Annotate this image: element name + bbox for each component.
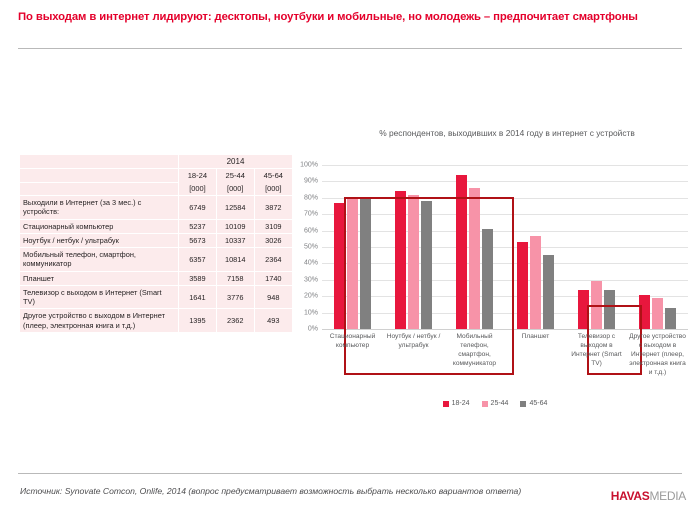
table-header-row-unit: [000] [000] [000] <box>20 182 292 196</box>
table-cell-value: 1395 <box>179 309 217 332</box>
footer-divider <box>18 473 682 474</box>
chart-x-axis-label: Мобильный телефон, смартфон, коммуникато… <box>444 333 505 377</box>
table-header-unit-1: [000] <box>179 182 217 196</box>
chart-bar <box>421 201 432 329</box>
table-cell-value: 5237 <box>179 219 217 233</box>
chart-bar <box>456 175 467 329</box>
table-header-age-25-44: 25-44 <box>216 169 254 183</box>
table-cell-value: 7158 <box>216 271 254 285</box>
table-cell-value: 6357 <box>179 248 217 272</box>
chart-y-tick-label: 30% <box>304 276 318 283</box>
chart-bar <box>665 308 676 329</box>
table-row: Мобильный телефон, смартфон, коммуникато… <box>20 248 292 272</box>
table-row: Стационарный компьютер5237101093109 <box>20 219 292 233</box>
chart-bar <box>652 298 663 329</box>
table-row: Планшет358971581740 <box>20 271 292 285</box>
table-row-label: Мобильный телефон, смартфон, коммуникато… <box>20 248 179 272</box>
table-corner-cell <box>20 155 179 169</box>
chart-bar-group <box>566 165 627 329</box>
chart-x-axis-label: Стационарный компьютер <box>322 333 383 377</box>
chart-y-tick-label: 20% <box>304 293 318 300</box>
table-cell-value: 3109 <box>254 219 292 233</box>
chart-bar <box>469 188 480 329</box>
chart-bar <box>591 281 602 329</box>
table-cell-value: 10814 <box>216 248 254 272</box>
chart-bar-group <box>627 165 688 329</box>
chart-gridline: 0% <box>322 329 688 330</box>
logo-havas-text: HAVAS <box>611 489 650 503</box>
table-cell-value: 948 <box>254 285 292 309</box>
table-header-unit-2: [000] <box>216 182 254 196</box>
table-header-age-18-24: 18-24 <box>179 169 217 183</box>
chart-bar <box>347 198 358 329</box>
table-row-label: Телевизор с выходом в Интернет (Smart TV… <box>20 285 179 309</box>
chart-y-tick-label: 80% <box>304 194 318 201</box>
table-header-age-45-64: 45-64 <box>254 169 292 183</box>
chart-bar <box>639 295 650 329</box>
chart-bar <box>530 236 541 329</box>
chart-title: % респондентов, выходивших в 2014 году в… <box>352 128 662 139</box>
chart-y-tick-label: 0% <box>308 326 318 333</box>
table-row: Выходили в Интернет (за 3 мес.) с устрой… <box>20 196 292 220</box>
chart-y-tick-label: 10% <box>304 309 318 316</box>
table-row: Другое устройство с выходом в Интернет (… <box>20 309 292 332</box>
legend-label: 45-64 <box>529 400 547 407</box>
chart-plot-area: 100%90%80%70%60%50%40%30%20%10%0% <box>322 165 688 329</box>
title-divider <box>18 48 682 49</box>
havas-media-logo: HAVASMEDIA <box>611 489 686 503</box>
table-cell-value: 3776 <box>216 285 254 309</box>
table-cell-value: 10337 <box>216 233 254 247</box>
legend-color-swatch <box>443 401 449 407</box>
table-cell-value: 3026 <box>254 233 292 247</box>
chart-bar-group <box>383 165 444 329</box>
table-header-row-age: 18-24 25-44 45-64 <box>20 169 292 183</box>
chart-x-axis-labels: Стационарный компьютерНоутбук / нетбук /… <box>322 333 688 377</box>
legend-color-swatch <box>520 401 526 407</box>
table-header-year: 2014 <box>179 155 293 169</box>
chart-y-tick-label: 70% <box>304 211 318 218</box>
table-row-label: Выходили в Интернет (за 3 мес.) с устрой… <box>20 196 179 220</box>
table-row-label: Другое устройство с выходом в Интернет (… <box>20 309 179 332</box>
table-cell-value: 10109 <box>216 219 254 233</box>
chart-bar <box>334 203 345 329</box>
page-title: По выходам в интернет лидируют: десктопы… <box>18 10 682 25</box>
chart-y-tick-label: 100% <box>300 162 318 169</box>
table-cell-value: 3589 <box>179 271 217 285</box>
chart-y-tick-label: 90% <box>304 178 318 185</box>
table-cell-value: 493 <box>254 309 292 332</box>
legend-label: 18-24 <box>452 400 470 407</box>
chart-bar-group <box>444 165 505 329</box>
table-header: 2014 18-24 25-44 45-64 [000] [000] [000] <box>20 155 292 196</box>
chart-legend-item[interactable]: 18-24 <box>443 400 470 407</box>
chart-x-axis-label: Планшет <box>505 333 566 377</box>
chart-bar <box>395 191 406 329</box>
table-cell-value: 3872 <box>254 196 292 220</box>
source-note: Источник: Synovate Comcon, Onlife, 2014 … <box>20 485 580 497</box>
table-header-row-year: 2014 <box>20 155 292 169</box>
chart-legend-item[interactable]: 25-44 <box>482 400 509 407</box>
table-cell-value: 2364 <box>254 248 292 272</box>
legend-color-swatch <box>482 401 488 407</box>
table-cell-value: 2362 <box>216 309 254 332</box>
legend-label: 25-44 <box>491 400 509 407</box>
chart-legend-item[interactable]: 45-64 <box>520 400 547 407</box>
chart-panel: % респондентов, выходивших в 2014 году в… <box>296 128 694 428</box>
table-row-label: Ноутбук / нетбук / ультрабук <box>20 233 179 247</box>
chart-y-tick-label: 60% <box>304 227 318 234</box>
chart-x-axis-label: Ноутбук / нетбук / ультрабук <box>383 333 444 377</box>
chart-bar <box>543 255 554 329</box>
table-cell-value: 12584 <box>216 196 254 220</box>
chart-bar-group <box>505 165 566 329</box>
table-corner-cell-2 <box>20 169 179 183</box>
table-cell-value: 6749 <box>179 196 217 220</box>
chart-legend: 18-2425-4445-64 <box>296 400 694 407</box>
table-header-unit-3: [000] <box>254 182 292 196</box>
table-body: Выходили в Интернет (за 3 мес.) с устрой… <box>20 196 292 332</box>
table-cell-value: 5673 <box>179 233 217 247</box>
table-cell-value: 1740 <box>254 271 292 285</box>
chart-x-axis-label: Другое устройство с выходом в Интернет (… <box>627 333 688 377</box>
chart-bar-group <box>322 165 383 329</box>
chart-bars <box>322 165 688 329</box>
table-row-label: Планшет <box>20 271 179 285</box>
chart-x-axis-label: Телевизор с выходом в Интернет (Smart TV… <box>566 333 627 377</box>
chart-y-tick-label: 40% <box>304 260 318 267</box>
table-corner-cell-3 <box>20 182 179 196</box>
chart-bar <box>517 242 528 329</box>
table-row: Телевизор с выходом в Интернет (Smart TV… <box>20 285 292 309</box>
table-row: Ноутбук / нетбук / ультрабук567310337302… <box>20 233 292 247</box>
chart-bar <box>360 198 371 329</box>
table-row-label: Стационарный компьютер <box>20 219 179 233</box>
device-usage-table: 2014 18-24 25-44 45-64 [000] [000] [000]… <box>20 155 292 332</box>
table-cell-value: 1641 <box>179 285 217 309</box>
chart-bar <box>482 229 493 329</box>
chart-bar <box>408 195 419 329</box>
slide-header: По выходам в интернет лидируют: десктопы… <box>18 10 682 25</box>
chart-bar <box>604 290 615 329</box>
chart-y-tick-label: 50% <box>304 244 318 251</box>
chart-bar <box>578 290 589 329</box>
logo-media-text: MEDIA <box>649 489 686 503</box>
